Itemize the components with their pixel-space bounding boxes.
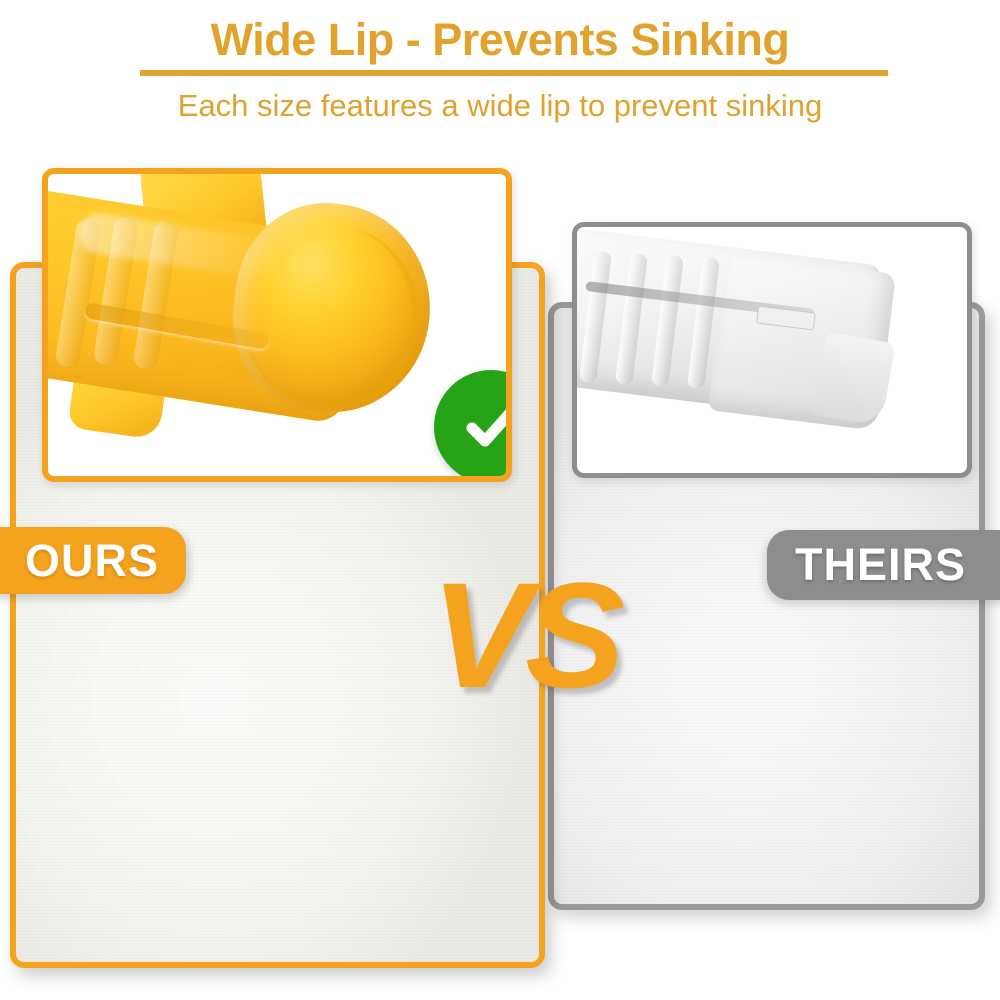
page-title: Wide Lip - Prevents Sinking	[0, 14, 1000, 66]
theirs-closeup-frame	[572, 222, 972, 478]
ours-closeup-frame	[42, 168, 512, 482]
infographic-canvas: Wide Lip - Prevents Sinking Each size fe…	[0, 0, 1000, 1000]
theirs-label-tab: THEIRS	[767, 530, 1000, 600]
ours-label-text: OURS	[13, 535, 159, 587]
theirs-label-text: THEIRS	[795, 539, 986, 591]
title-underline	[140, 70, 888, 76]
page-subtitle: Each size features a wide lip to prevent…	[0, 88, 1000, 124]
gray-anchor-tip	[812, 332, 896, 427]
theirs-anchor-photo	[577, 227, 967, 473]
ours-label-tab: OURS	[0, 527, 186, 594]
versus-label: VS	[415, 560, 635, 710]
